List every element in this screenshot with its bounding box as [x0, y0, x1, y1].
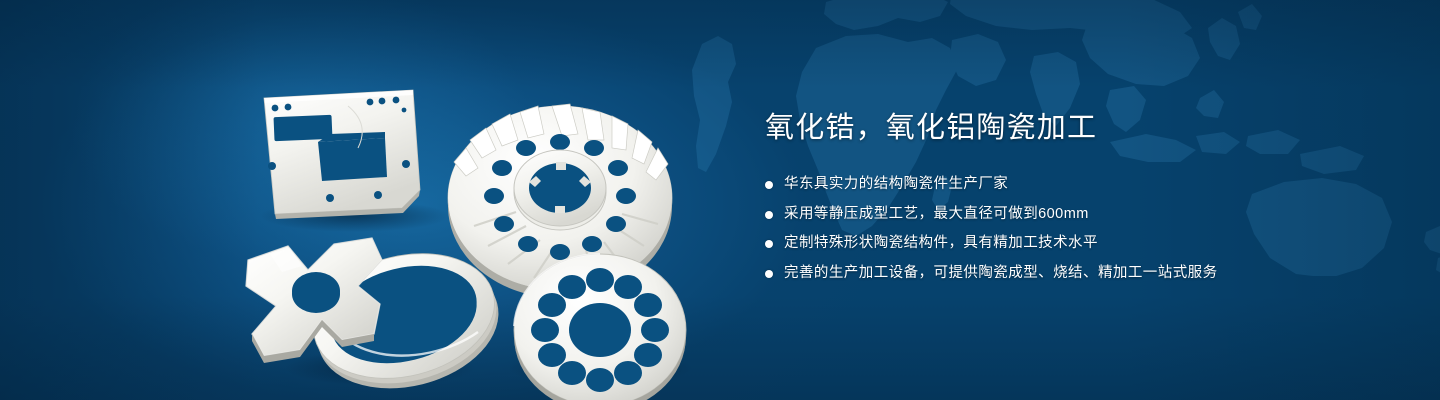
list-item-label: 定制特殊形状陶瓷结构件，具有精加工技术水平	[784, 234, 1098, 254]
bullet-dot-icon	[765, 270, 773, 278]
bullet-dot-icon	[765, 211, 773, 219]
list-item: 完善的生产加工设备，可提供陶瓷成型、烧结、精加工一站式服务	[765, 264, 1365, 284]
list-item-label: 完善的生产加工设备，可提供陶瓷成型、烧结、精加工一站式服务	[784, 264, 1218, 284]
product-photo-group	[230, 38, 710, 388]
bullet-dot-icon	[765, 181, 773, 189]
feature-list: 华东具实力的结构陶瓷件生产厂家 采用等静压成型工艺，最大直径可做到600mm 定…	[765, 175, 1365, 283]
bullet-dot-icon	[765, 240, 773, 248]
list-item-label: 华东具实力的结构陶瓷件生产厂家	[784, 175, 1008, 195]
banner-copy: 氧化锆，氧化铝陶瓷加工 华东具实力的结构陶瓷件生产厂家 采用等静压成型工艺，最大…	[765, 112, 1365, 284]
ceramic-mounting-plate	[264, 90, 420, 219]
list-item-label: 采用等静压成型工艺，最大直径可做到600mm	[784, 205, 1089, 225]
list-item: 定制特殊形状陶瓷结构件，具有精加工技术水平	[765, 234, 1365, 254]
ceramic-valve-plate	[514, 254, 686, 400]
list-item: 华东具实力的结构陶瓷件生产厂家	[765, 175, 1365, 195]
hero-banner: 氧化锆，氧化铝陶瓷加工 华东具实力的结构陶瓷件生产厂家 采用等静压成型工艺，最大…	[0, 0, 1440, 400]
list-item: 采用等静压成型工艺，最大直径可做到600mm	[765, 205, 1365, 225]
page-title: 氧化锆，氧化铝陶瓷加工	[765, 112, 1365, 145]
